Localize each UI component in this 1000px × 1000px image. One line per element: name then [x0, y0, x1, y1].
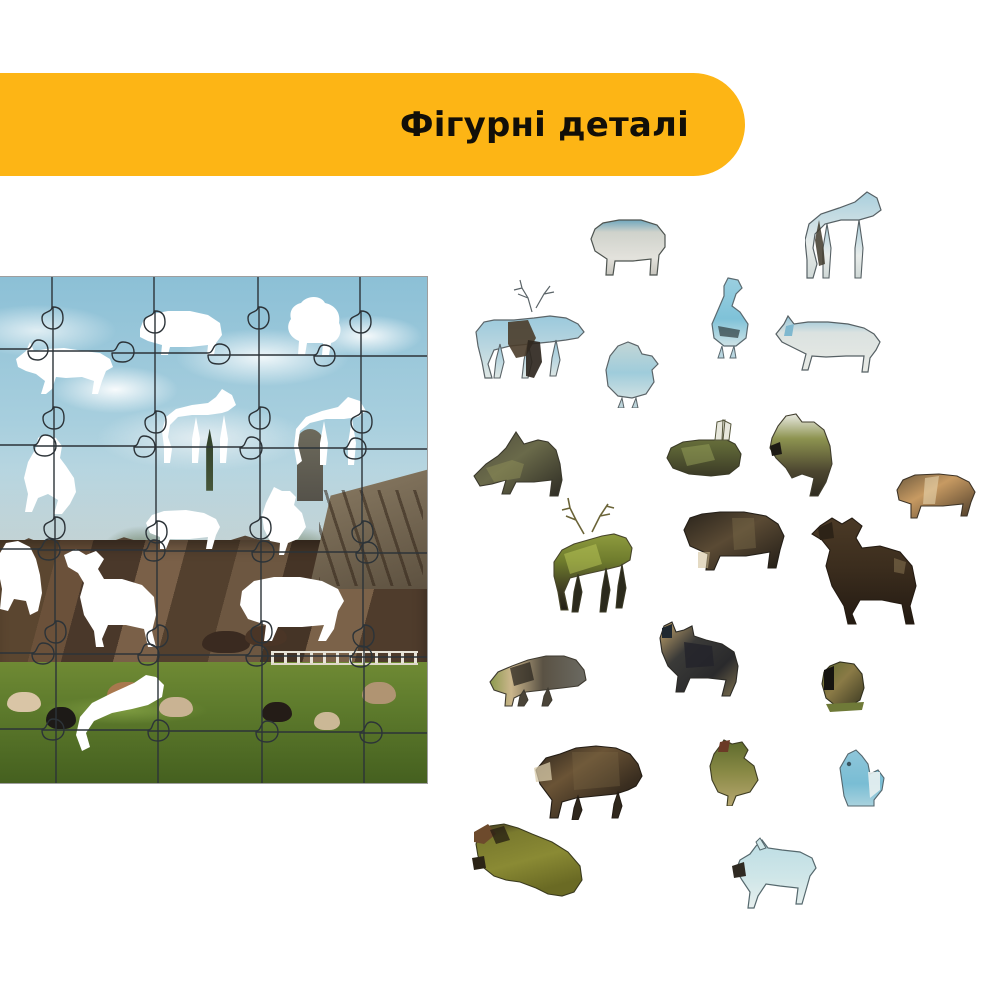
- figure-piece-raccoon[interactable]: [488, 648, 590, 708]
- figure-piece-marten[interactable]: [768, 412, 844, 506]
- figure-piece-rabbit[interactable]: [665, 418, 745, 486]
- figure-piece-rooster[interactable]: [702, 738, 760, 806]
- figure-piece-husky[interactable]: [472, 424, 574, 502]
- puzzle-preview-panel: [0, 277, 427, 783]
- page-root: Фігурні деталі: [0, 0, 1000, 1000]
- figure-piece-squirrel[interactable]: [834, 748, 886, 808]
- figure-piece-wolf[interactable]: [772, 312, 884, 376]
- figure-piece-sheep[interactable]: [585, 213, 669, 279]
- figure-piece-goose[interactable]: [700, 276, 752, 360]
- figure-piece-stag[interactable]: [540, 492, 654, 616]
- figure-piece-reindeer[interactable]: [470, 278, 592, 382]
- figure-piece-turkey[interactable]: [600, 340, 660, 408]
- header-banner: Фігурні деталі: [0, 73, 745, 176]
- figure-piece-bear-2[interactable]: [470, 818, 592, 910]
- puzzle-scene-image: [0, 277, 427, 783]
- figure-piece-owl[interactable]: [820, 660, 870, 718]
- figure-piece-bull[interactable]: [532, 740, 650, 820]
- figure-piece-shepherd-dog[interactable]: [650, 620, 742, 706]
- figure-piece-bear[interactable]: [680, 508, 786, 580]
- page-title: Фігурні деталі: [400, 108, 689, 142]
- figure-piece-foal[interactable]: [805, 190, 891, 280]
- puzzle-cut-lines: [0, 277, 427, 783]
- figure-piece-moose[interactable]: [800, 514, 922, 626]
- figure-piece-goat-kid[interactable]: [728, 836, 820, 910]
